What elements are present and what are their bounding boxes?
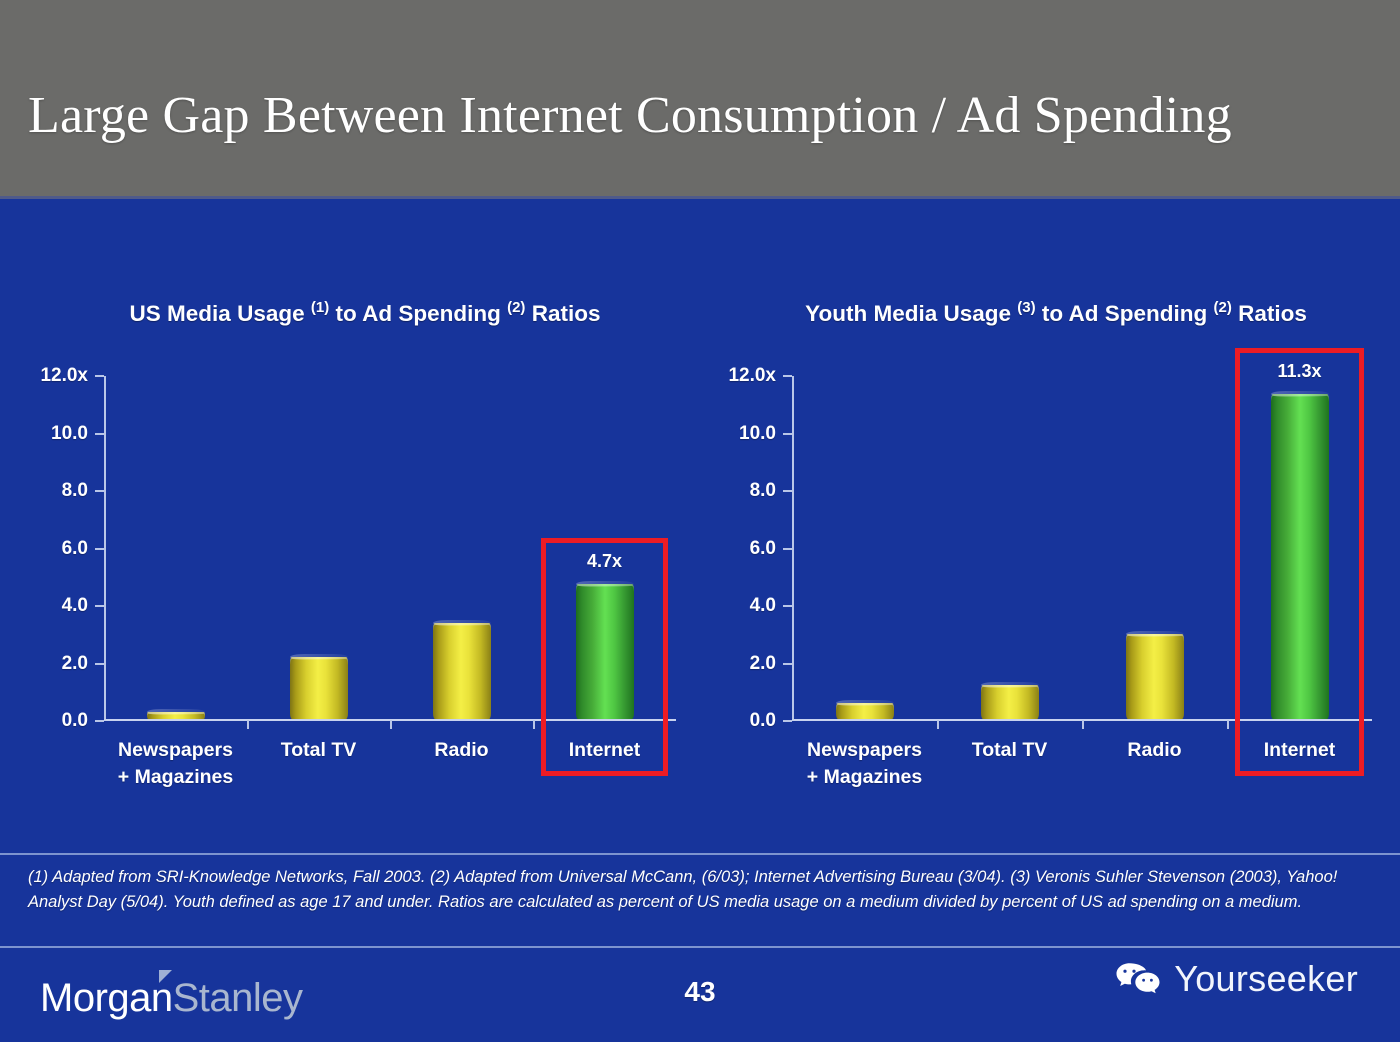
y-axis-tick [95, 490, 104, 492]
bar-cap [981, 682, 1039, 688]
x-axis-category-label: Newspapers+ Magazines [807, 737, 922, 791]
footnote-ref-2: (2) [507, 299, 525, 316]
footnote-ref-2: (2) [1214, 299, 1232, 316]
y-axis-label: 10.0 [51, 423, 88, 445]
y-axis-tick [95, 663, 104, 665]
x-axis-category-label: Internet [569, 737, 641, 764]
y-axis-tick [783, 548, 792, 550]
footnote-text: (1) Adapted from SRI-Knowledge Networks,… [28, 865, 1378, 915]
category-label-line: + Magazines [807, 764, 922, 791]
category-label-line: Total TV [972, 737, 1047, 764]
bar-cap [1271, 391, 1329, 397]
plot-area-youth: 0.02.04.06.08.010.012.0xNewspapers+ Maga… [792, 376, 1372, 721]
bar-cap [290, 654, 348, 660]
divider-bottom [0, 946, 1400, 948]
y-axis-label: 0.0 [62, 710, 88, 732]
category-label-line: Radio [1127, 737, 1181, 764]
bar-total-tv[interactable] [290, 657, 348, 719]
plot-area-us: 0.02.04.06.08.010.012.0xNewspapers+ Maga… [104, 376, 676, 721]
footnote-ref-3: (3) [1017, 299, 1035, 316]
y-axis-label: 4.0 [62, 595, 88, 617]
y-axis-label: 12.0x [40, 365, 88, 387]
x-axis-category-label: Radio [434, 737, 488, 764]
y-axis-tick [95, 433, 104, 435]
y-axis-tick [783, 720, 792, 722]
x-axis-category-label: Radio [1127, 737, 1181, 764]
bar-internet[interactable] [1271, 394, 1329, 719]
y-axis-label: 12.0x [728, 365, 776, 387]
bar-newspapers-magazines[interactable] [147, 712, 205, 719]
y-axis-tick [95, 605, 104, 607]
chart-title-text-a: Youth Media Usage [805, 301, 1017, 326]
bar-radio[interactable] [1126, 634, 1184, 719]
bar-total-tv[interactable] [981, 685, 1039, 720]
x-axis-tick [247, 720, 249, 729]
page-title: Large Gap Between Internet Consumption /… [28, 86, 1232, 145]
watermark-label: Yourseeker [1174, 958, 1358, 1000]
category-label-line: Internet [569, 737, 641, 764]
bar-value-label: 4.7x [587, 551, 622, 572]
bar-cap [576, 581, 634, 587]
y-axis-label: 6.0 [62, 538, 88, 560]
chart-panel-us-media-usage: US Media Usage (1) to Ad Spending (2) Ra… [20, 208, 710, 828]
y-axis-label: 2.0 [750, 653, 776, 675]
bar-cap [836, 700, 894, 706]
y-axis-line [792, 376, 794, 721]
x-axis-category-label: Internet [1264, 737, 1336, 764]
divider-top [0, 853, 1400, 855]
chart-title-us: US Media Usage (1) to Ad Spending (2) Ra… [20, 290, 710, 331]
chart-title-text-a: US Media Usage [130, 301, 311, 326]
chart-title-text-b: to Ad Spending [1036, 301, 1214, 326]
y-axis-tick [783, 663, 792, 665]
y-axis-label: 4.0 [750, 595, 776, 617]
chart-title-text-c: Ratios [525, 301, 600, 326]
slide: Large Gap Between Internet Consumption /… [0, 0, 1400, 1042]
y-axis-tick [783, 375, 792, 377]
y-axis-tick [95, 720, 104, 722]
slide-header: Large Gap Between Internet Consumption /… [0, 0, 1400, 199]
category-label-line: Newspapers [118, 737, 233, 764]
watermark: Yourseeker [1115, 958, 1358, 1000]
x-axis-tick [1082, 720, 1084, 729]
category-label-line: Radio [434, 737, 488, 764]
chart-title-text-c: Ratios [1232, 301, 1307, 326]
chart-panel-youth-media-usage: Youth Media Usage (3) to Ad Spending (2)… [712, 208, 1400, 828]
chart-title-text-b: to Ad Spending [329, 301, 507, 326]
x-axis-category-label: Newspapers+ Magazines [118, 737, 233, 791]
y-axis-label: 2.0 [62, 653, 88, 675]
category-label-line: + Magazines [118, 764, 233, 791]
bar-radio[interactable] [433, 623, 491, 719]
bar-value-label: 11.3x [1277, 361, 1321, 382]
x-axis-tick [937, 720, 939, 729]
wechat-icon [1115, 962, 1161, 996]
x-axis-category-label: Total TV [281, 737, 356, 764]
category-label-line: Total TV [281, 737, 356, 764]
x-axis-tick [533, 720, 535, 729]
y-axis-label: 8.0 [750, 480, 776, 502]
y-axis-label: 8.0 [62, 480, 88, 502]
y-axis-tick [783, 433, 792, 435]
bar-newspapers-magazines[interactable] [836, 703, 894, 719]
bar-cap [1126, 631, 1184, 637]
category-label-line: Internet [1264, 737, 1336, 764]
y-axis-label: 0.0 [750, 710, 776, 732]
bar-internet[interactable] [576, 584, 634, 719]
y-axis-tick [95, 375, 104, 377]
chart-title-youth: Youth Media Usage (3) to Ad Spending (2)… [712, 290, 1400, 331]
y-axis-tick [783, 490, 792, 492]
y-axis-tick [95, 548, 104, 550]
bar-cap [147, 709, 205, 715]
y-axis-tick [783, 605, 792, 607]
x-axis-category-label: Total TV [972, 737, 1047, 764]
y-axis-label: 6.0 [750, 538, 776, 560]
footnote-ref-1: (1) [311, 299, 329, 316]
y-axis-line [104, 376, 106, 721]
bar-cap [433, 620, 491, 626]
y-axis-label: 10.0 [739, 423, 776, 445]
category-label-line: Newspapers [807, 737, 922, 764]
x-axis-tick [1227, 720, 1229, 729]
x-axis-tick [390, 720, 392, 729]
